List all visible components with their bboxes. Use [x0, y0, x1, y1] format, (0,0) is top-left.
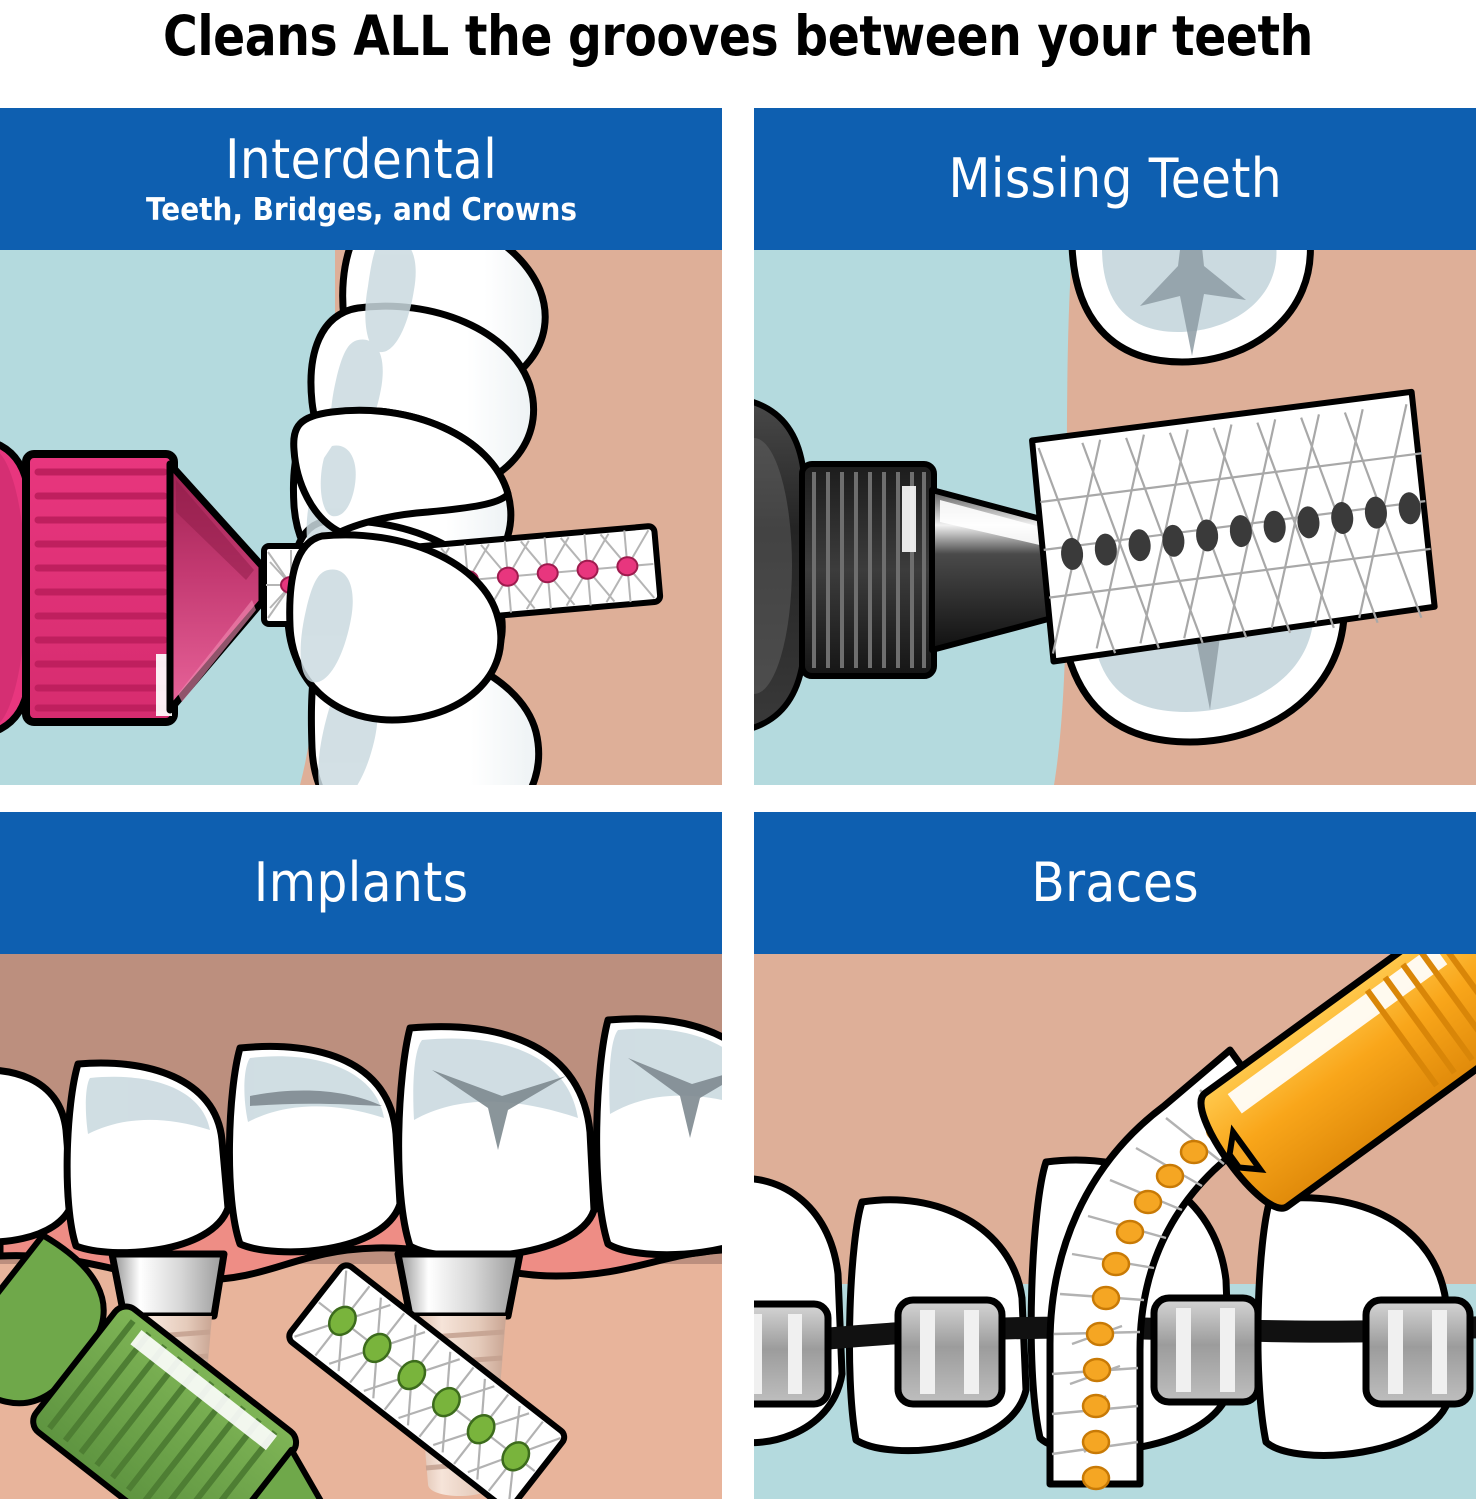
- implants-illustration: [0, 954, 722, 1499]
- panel-header-missing-teeth: Missing Teeth: [754, 108, 1476, 250]
- interdental-illustration: [0, 250, 722, 785]
- missing-teeth-illustration: [754, 250, 1476, 785]
- panel-subtitle-interdental: Teeth, Bridges, and Crowns: [145, 195, 576, 226]
- panel-grid: Interdental Teeth, Bridges, and Crowns: [0, 108, 1476, 1500]
- panel-implants: Implants: [0, 812, 722, 1499]
- panel-header-braces: Braces: [754, 812, 1476, 954]
- panel-title-braces: Braces: [1031, 856, 1199, 910]
- panel-header-implants: Implants: [0, 812, 722, 954]
- panel-missing-teeth: Missing Teeth: [754, 108, 1476, 785]
- panel-braces: Braces: [754, 812, 1476, 1499]
- panel-title-missing-teeth: Missing Teeth: [948, 152, 1282, 206]
- bracket-1: [754, 1304, 828, 1404]
- panel-title-implants: Implants: [254, 856, 469, 910]
- panel-header-interdental: Interdental Teeth, Bridges, and Crowns: [0, 108, 722, 250]
- bracket-2: [898, 1300, 1002, 1404]
- braces-illustration: [754, 954, 1476, 1499]
- page-title: Cleans ALL the grooves between your teet…: [103, 0, 1372, 72]
- bracket-4: [1366, 1300, 1470, 1404]
- bracket-3: [1154, 1298, 1258, 1402]
- panel-interdental: Interdental Teeth, Bridges, and Crowns: [0, 108, 722, 785]
- infographic-root: Cleans ALL the grooves between your teet…: [0, 0, 1476, 1500]
- panel-title-interdental: Interdental: [225, 133, 497, 187]
